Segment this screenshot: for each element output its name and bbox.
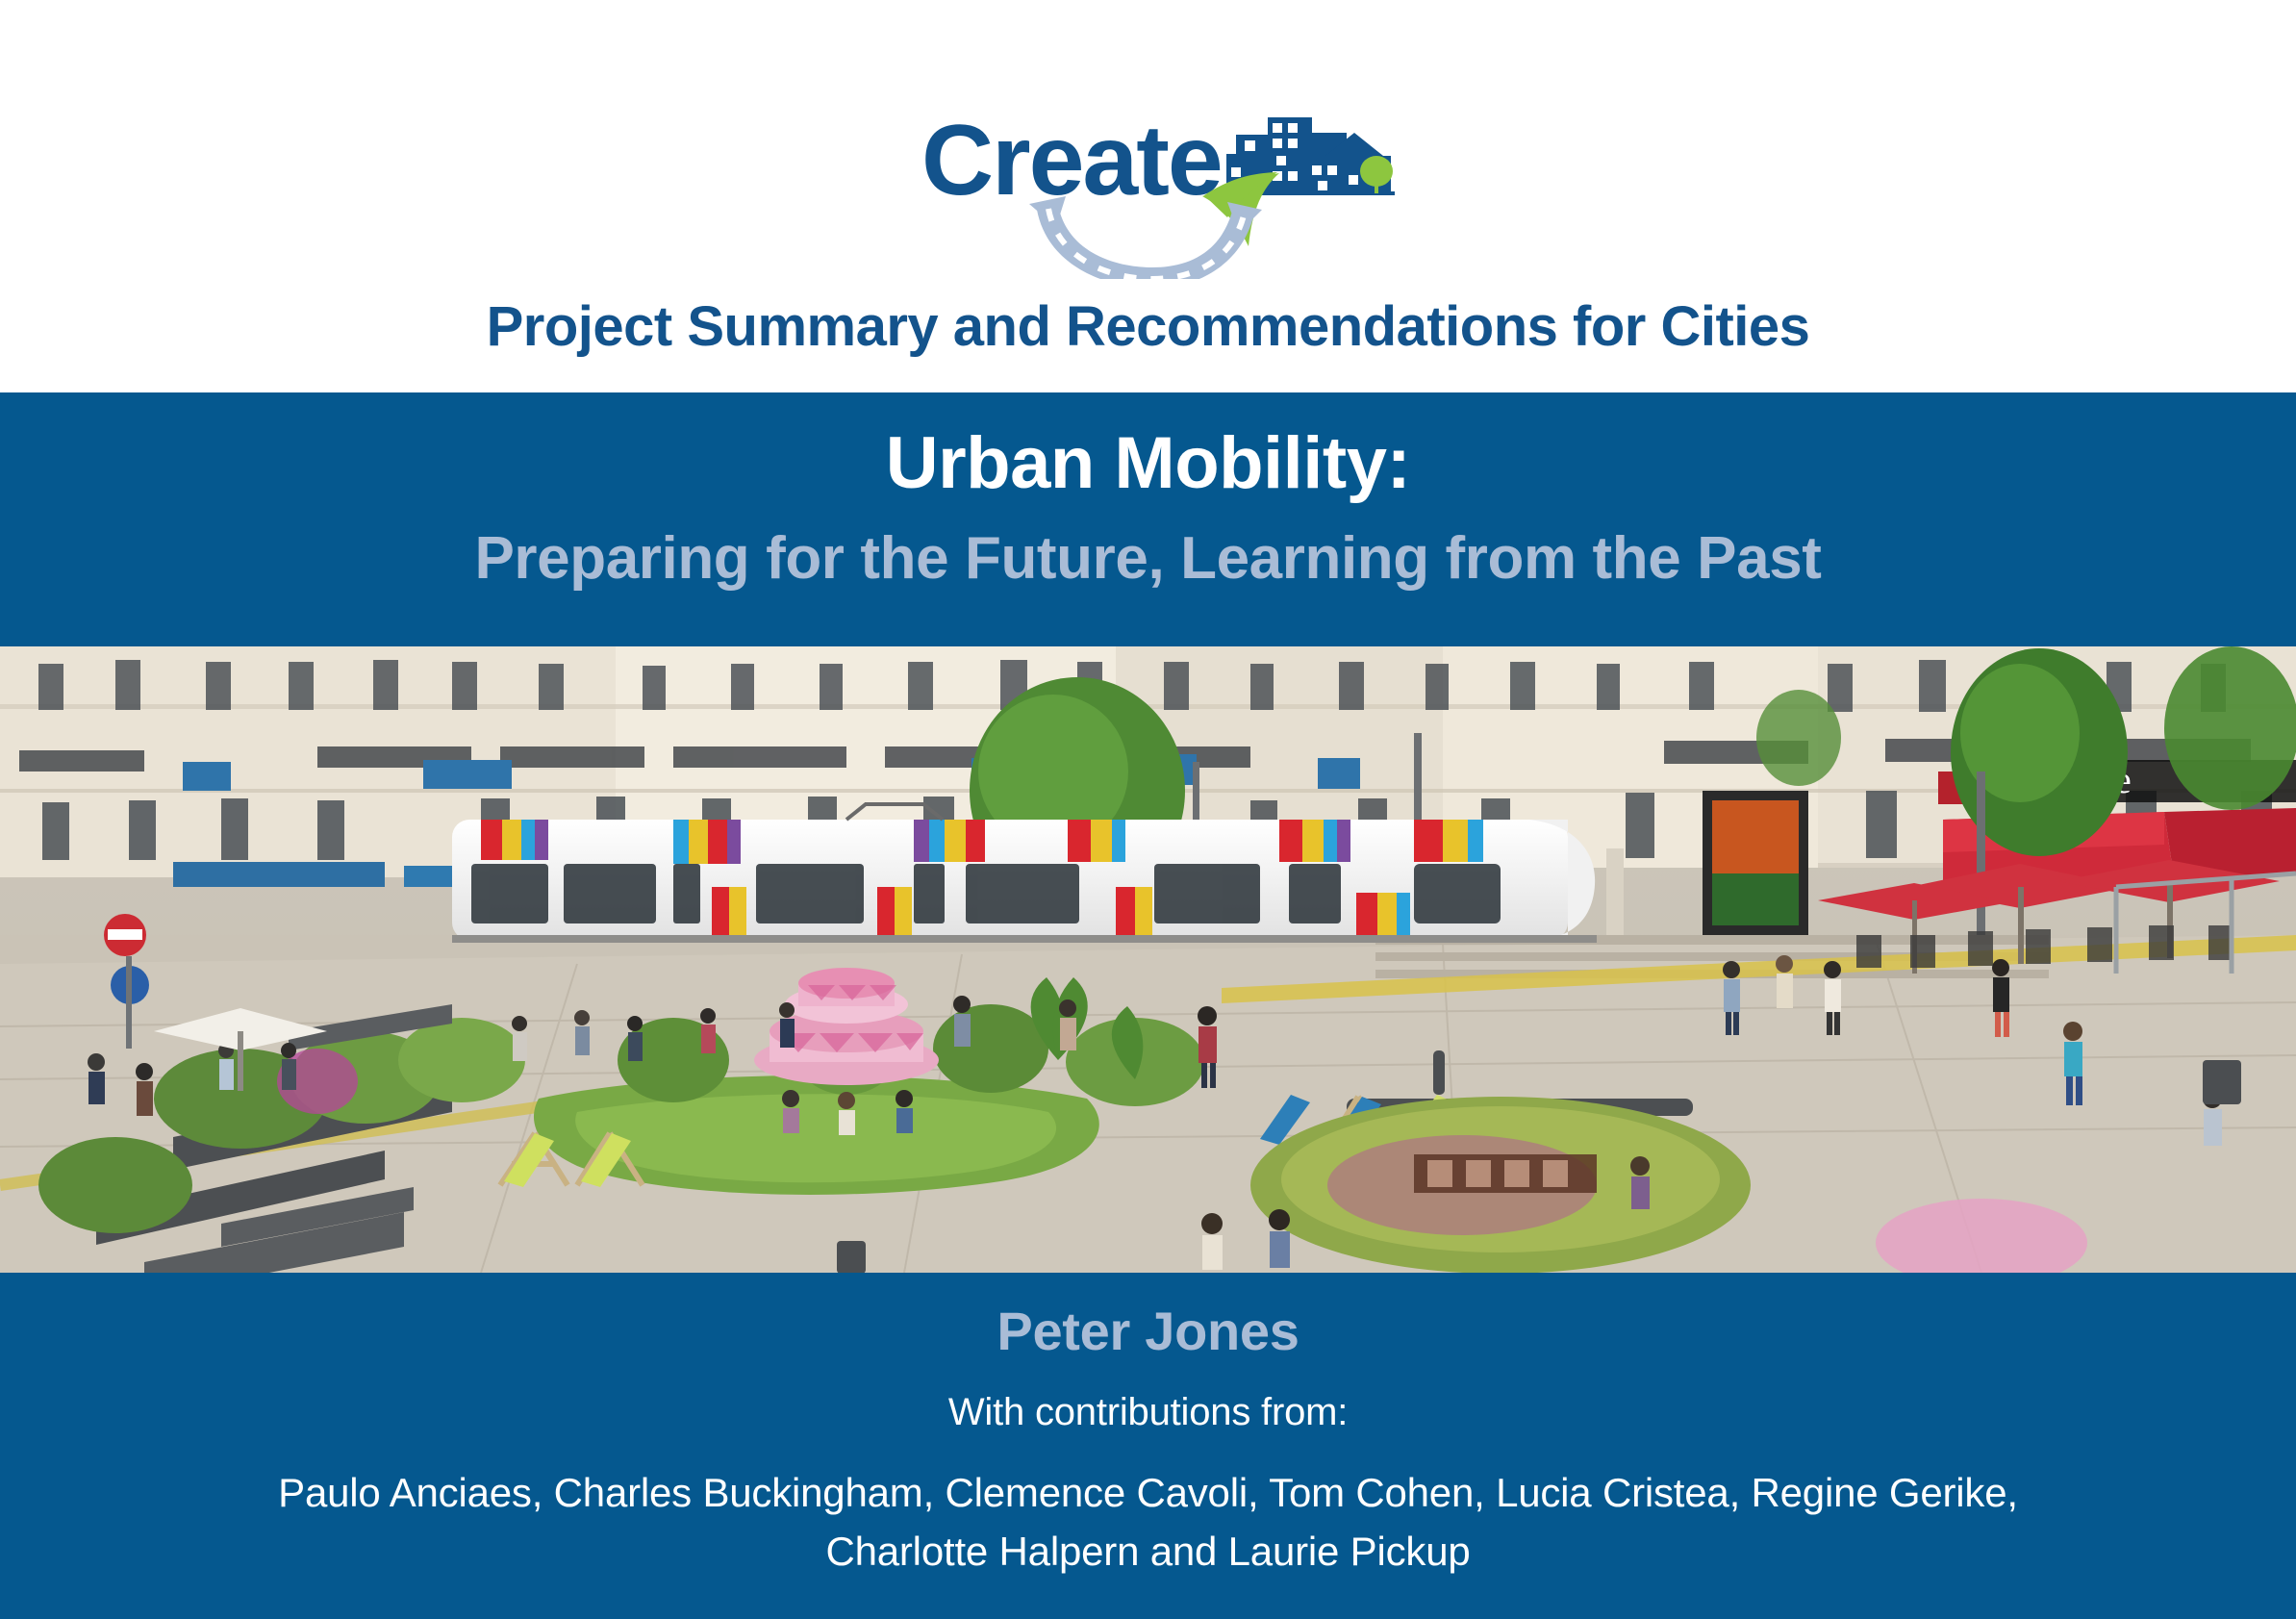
cover-footer: Peter Jones With contributions from: Pau… <box>0 1273 2296 1619</box>
cover-subtitle: Project Summary and Recommendations for … <box>0 294 2296 359</box>
page-title: Urban Mobility: <box>0 427 2296 500</box>
pedestrian <box>779 1002 795 1048</box>
pedestrian <box>1630 1156 1650 1209</box>
pedestrian <box>281 1043 296 1090</box>
contributors-line-2: Charlotte Halpern and Laurie Pickup <box>0 1529 2296 1575</box>
pedestrian <box>1201 1213 1223 1270</box>
cover-photo: héâtre <box>0 646 2296 1273</box>
document-cover: Create <box>0 0 2296 1619</box>
pedestrian <box>2063 1022 2082 1105</box>
tram <box>452 804 1597 943</box>
pedestrian <box>1059 999 1076 1050</box>
pedestrian <box>782 1090 799 1133</box>
pedestrian <box>627 1016 643 1061</box>
contributors-line-1: Paulo Anciaes, Charles Buckingham, Cleme… <box>0 1470 2296 1516</box>
cover-header: Create <box>0 0 2296 392</box>
create-logo: Create <box>895 96 1395 279</box>
pedestrian <box>700 1008 716 1053</box>
contributions-label: With contributions from: <box>0 1391 2296 1434</box>
pedestrian <box>512 1016 527 1061</box>
cover-photo-illustration: héâtre <box>0 646 2296 1273</box>
logo-wordmark: Create <box>921 105 1222 216</box>
pedestrian <box>838 1092 855 1135</box>
page-subtitle: Preparing for the Future, Learning from … <box>0 529 2296 589</box>
pedestrian <box>953 996 971 1047</box>
pedestrian <box>88 1053 105 1104</box>
pedestrian <box>1776 955 1793 1008</box>
pedestrian <box>1269 1209 1290 1268</box>
pedestrian <box>218 1043 234 1090</box>
pedestrian <box>136 1063 153 1116</box>
pedestrian <box>896 1090 913 1133</box>
author-name: Peter Jones <box>0 1300 2296 1362</box>
title-band: Urban Mobility: Preparing for the Future… <box>0 392 2296 646</box>
create-logo-svg: Create <box>895 96 1395 279</box>
pedestrian <box>574 1010 590 1055</box>
advertising-panel <box>1703 791 1808 935</box>
